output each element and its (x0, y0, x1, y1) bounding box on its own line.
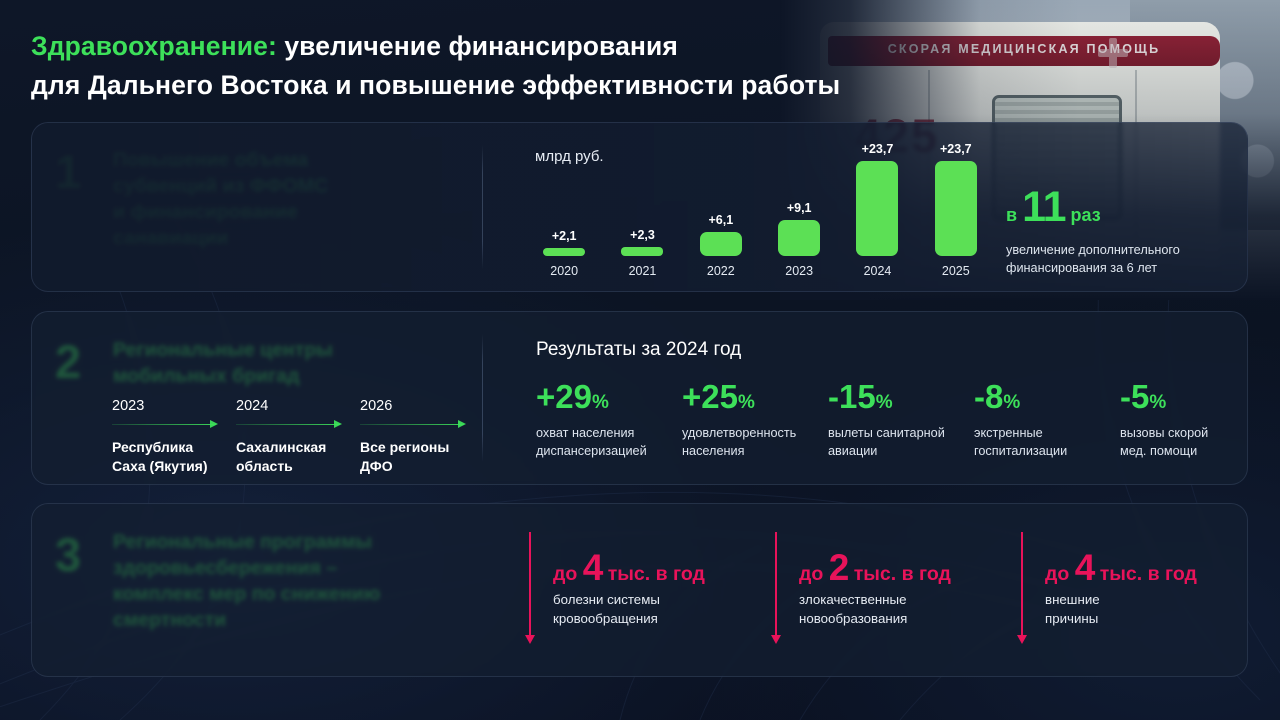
timeline-year: 2023 (112, 398, 230, 414)
down-arrow-icon (1021, 532, 1023, 636)
stat-label: экстренные госпитализации (974, 424, 1116, 460)
risk-suffix: тыс. в год (1094, 563, 1197, 585)
bar-column: +2,12020 (525, 168, 603, 278)
stat-label: охват населения диспансеризацией (536, 424, 678, 460)
arrow-right-icon (112, 420, 224, 430)
stat-label: удовлетворенность населения (682, 424, 824, 460)
risk-label: болезни системы кровообращения (553, 590, 660, 629)
stat-item: -5%вызовы скорой мед. помощи (1120, 380, 1262, 460)
stat-number: -15 (828, 378, 876, 415)
timeline-item: 2023Республика Саха (Якутия) (112, 398, 230, 477)
timeline-label: Все регионы ДФО (360, 438, 478, 477)
bar-value-label: +23,7 (940, 142, 972, 156)
stat-label: вылеты санитарной авиации (828, 424, 970, 460)
bar-column: +23,72024 (838, 168, 916, 278)
bar-year-label: 2020 (550, 264, 578, 278)
arrow-right-icon (236, 420, 348, 430)
stat-value: -15% (828, 380, 970, 413)
risk-label: внешние причины (1045, 590, 1100, 629)
bar-rect (621, 247, 663, 256)
stat-number: -8 (974, 378, 1003, 415)
risk-value: 2 (829, 547, 849, 588)
stat-unit: % (738, 392, 755, 413)
bar-value-label: +2,3 (630, 228, 655, 242)
risk-headline: до 4 тыс. в год (1045, 549, 1197, 586)
timeline-item: 2026Все регионы ДФО (360, 398, 478, 477)
risk-suffix: тыс. в год (848, 563, 951, 585)
timeline-year: 2026 (360, 398, 478, 414)
timeline-label: Сахалинская область (236, 438, 354, 477)
title-rest: увеличение финансирования (277, 31, 678, 61)
bar-rect (543, 248, 585, 256)
bar-rect (935, 161, 977, 256)
stat-item: -15%вылеты санитарной авиации (828, 380, 970, 460)
card2-divider (482, 334, 483, 462)
bar-year-label: 2024 (864, 264, 892, 278)
kpi-subtext: увеличение дополнительного финансировани… (1006, 241, 1180, 278)
kpi-suffix: раз (1066, 205, 1101, 225)
risk-headline: до 2 тыс. в год (799, 549, 951, 586)
card1-divider (482, 145, 483, 269)
page-title: Здравоохранение: увеличение финансирован… (31, 27, 911, 105)
bar-value-label: +23,7 (862, 142, 894, 156)
timeline-label: Республика Саха (Якутия) (112, 438, 230, 477)
stat-value: -5% (1120, 380, 1262, 413)
chart-unit-label: млрд руб. (535, 148, 604, 165)
stat-item: +25%удовлетворенность населения (682, 380, 824, 460)
timeline-year: 2024 (236, 398, 354, 414)
kpi-callout: в 11 раз увеличение дополнительного фина… (1006, 186, 1180, 278)
results-title: Результаты за 2024 год (536, 339, 741, 361)
risk-prefix: до (553, 563, 583, 585)
bar-year-label: 2023 (785, 264, 813, 278)
bar-year-label: 2021 (629, 264, 657, 278)
bar-value-label: +9,1 (787, 201, 812, 215)
kpi-line: в 11 раз (1006, 186, 1180, 229)
risk-headline: до 4 тыс. в год (553, 549, 705, 586)
bar-year-label: 2022 (707, 264, 735, 278)
subventions-bar-chart: +2,12020+2,32021+6,12022+9,12023+23,7202… (525, 168, 995, 278)
bar-value-label: +6,1 (708, 213, 733, 227)
bar-rect (856, 161, 898, 256)
stat-item: -8%экстренные госпитализации (974, 380, 1116, 460)
bar-value-label: +2,1 (552, 229, 577, 243)
stat-number: +25 (682, 378, 738, 415)
risk-label: злокачественные новообразования (799, 590, 907, 629)
risk-value: 4 (1075, 547, 1095, 588)
stat-unit: % (1149, 392, 1166, 413)
title-highlight: Здравоохранение: (31, 31, 277, 61)
bar-year-label: 2025 (942, 264, 970, 278)
kpi-prefix: в (1006, 205, 1022, 225)
infographic-slide: 425 СКОРАЯ МЕДИЦИНСКАЯ ПОМОЩЬ Здравоохра… (0, 0, 1280, 720)
stat-unit: % (1003, 392, 1020, 413)
kpi-value: 11 (1022, 183, 1065, 231)
bar-rect (700, 232, 742, 256)
stat-label: вызовы скорой мед. помощи (1120, 424, 1262, 460)
stat-number: -5 (1120, 378, 1149, 415)
risk-prefix: до (799, 563, 829, 585)
stat-value: +25% (682, 380, 824, 413)
bar-rect (778, 220, 820, 256)
down-arrow-icon (775, 532, 777, 636)
stat-number: +29 (536, 378, 592, 415)
bar-column: +6,12022 (682, 168, 760, 278)
arrow-right-icon (360, 420, 472, 430)
risk-prefix: до (1045, 563, 1075, 585)
stat-unit: % (592, 392, 609, 413)
bar-column: +2,32021 (603, 168, 681, 278)
bar-column: +23,72025 (917, 168, 995, 278)
down-arrow-icon (529, 532, 531, 636)
stat-item: +29%охват населения диспансеризацией (536, 380, 678, 460)
mortality-risks: до 4 тыс. в годболезни системы кровообра… (529, 532, 1239, 650)
bar-column: +9,12023 (760, 168, 838, 278)
risk-value: 4 (583, 547, 603, 588)
timeline-item: 2024Сахалинская область (236, 398, 354, 477)
stat-unit: % (876, 392, 893, 413)
stat-value: -8% (974, 380, 1116, 413)
title-line2: для Дальнего Востока и повышение эффекти… (31, 70, 840, 100)
stat-value: +29% (536, 380, 678, 413)
risk-suffix: тыс. в год (602, 563, 705, 585)
